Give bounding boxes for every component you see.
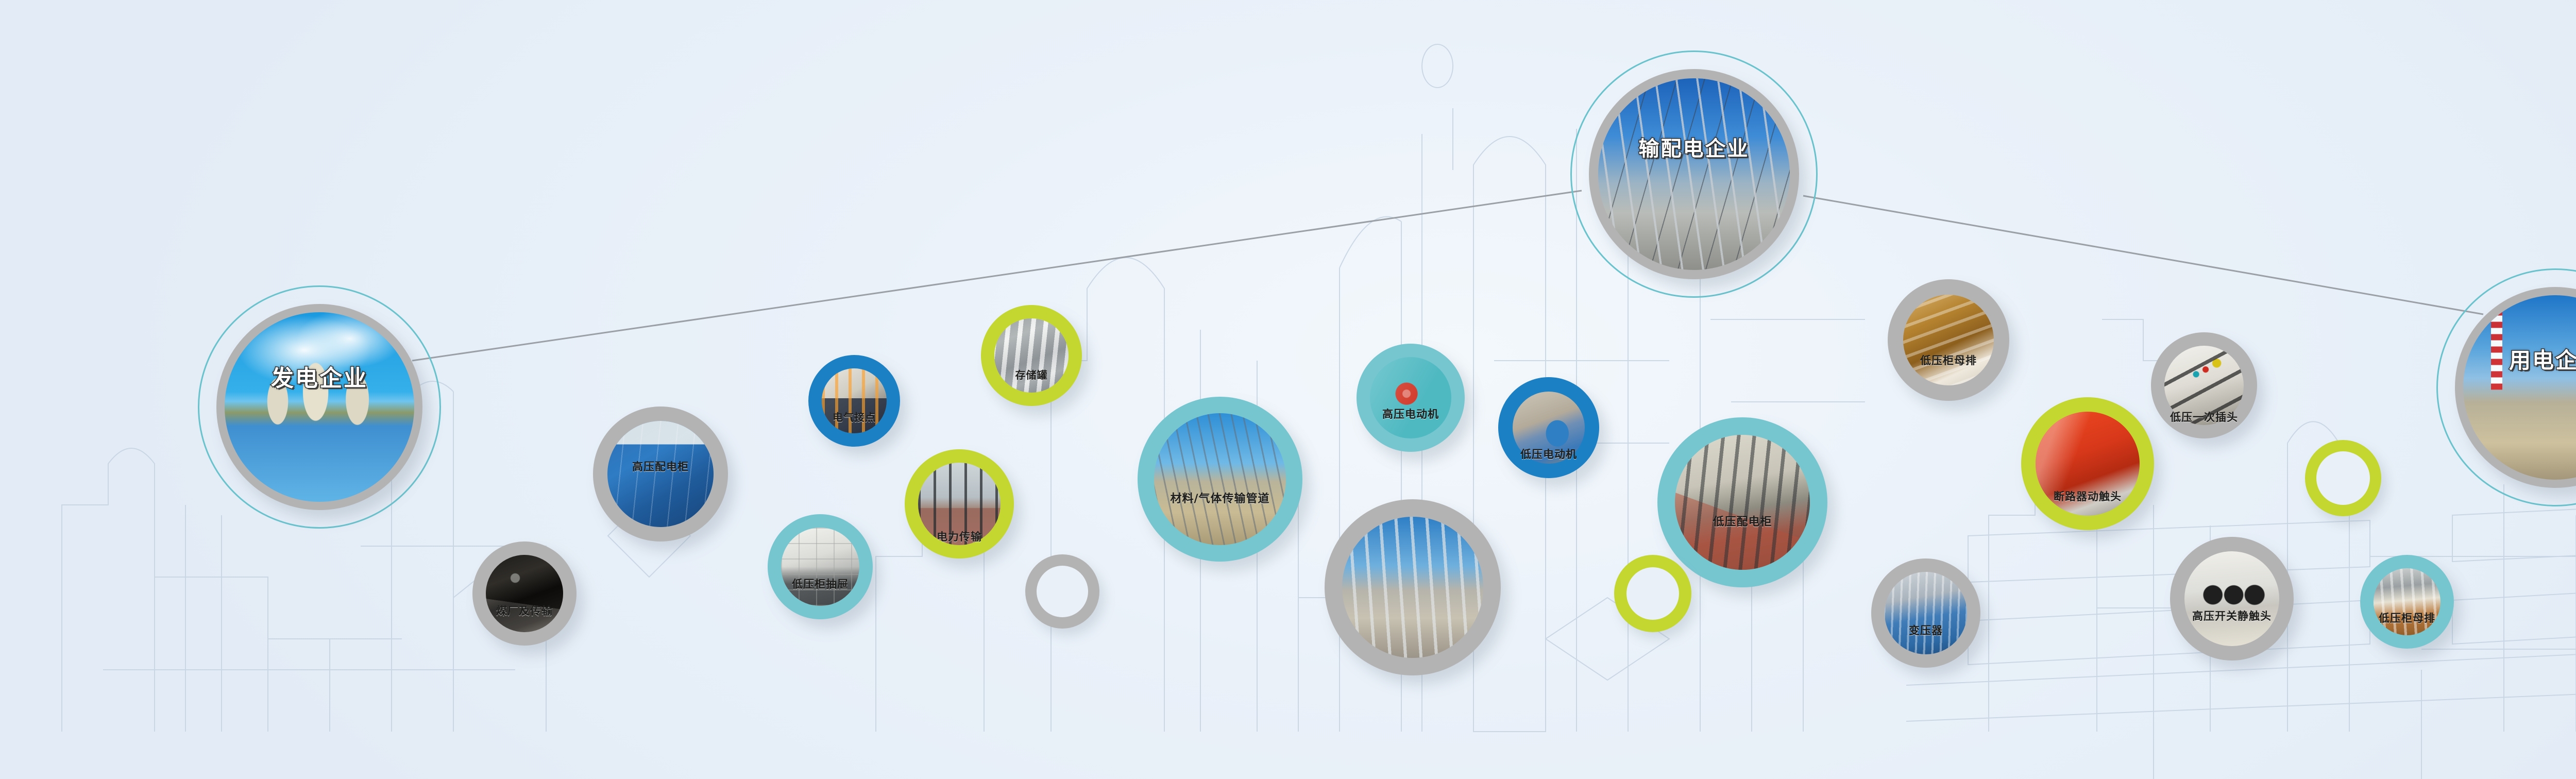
- node-lv-busbar-2[interactable]: 低压柜母排: [2360, 555, 2454, 649]
- node-lv-busbar-2-ring: [2360, 555, 2454, 649]
- node-lv-motor-caption: 低压电动机: [1520, 446, 1577, 462]
- node-lv-cabinet-caption: 低压配电柜: [1713, 513, 1772, 529]
- node-transmit-caption: 电力传输: [937, 529, 982, 544]
- node-lv-plug[interactable]: 低压一次插头: [2151, 332, 2257, 438]
- node-hv-motor-ring: [1357, 344, 1465, 452]
- node-lv-drawer[interactable]: 低压柜抽屉: [768, 514, 873, 619]
- node-contact-caption: 电气接点: [833, 409, 876, 424]
- node-deco-ring-1-photo: [1037, 566, 1088, 617]
- node-transformer-caption: 变压器: [1909, 622, 1943, 638]
- node-deco-ring-1[interactable]: [1025, 554, 1099, 629]
- node-coal-photo: [486, 555, 563, 632]
- node-contact[interactable]: 电气接点: [808, 355, 900, 447]
- node-hv-static-ring: [2170, 537, 2294, 661]
- node-lv-motor-ring: [1498, 377, 1599, 478]
- node-stack-plant-photo: [1342, 517, 1483, 658]
- node-coal-caption: 煤厂及传输: [496, 603, 553, 618]
- node-transmit[interactable]: 电力传输: [905, 449, 1014, 558]
- node-stack-plant-ring: [1325, 499, 1501, 675]
- node-consumption[interactable]: 用电企业: [2455, 287, 2576, 488]
- node-pipeline[interactable]: 材料/气体传输管道: [1138, 397, 1302, 562]
- node-transformer-ring: [1871, 558, 1980, 668]
- node-pipeline-photo: [1154, 413, 1286, 545]
- node-consumption-caption: 用电企业: [2509, 343, 2576, 375]
- node-transmission-photo: [1598, 78, 1790, 270]
- node-hv-cabinet[interactable]: 高压配电柜: [593, 407, 728, 541]
- node-deco-ring-2-ring: [1614, 555, 1691, 632]
- node-generation[interactable]: 发电企业: [216, 304, 422, 510]
- node-deco-ring-2-photo: [1626, 567, 1679, 620]
- node-hv-cabinet-ring: [593, 407, 728, 541]
- node-deco-ring-1-ring: [1025, 554, 1099, 629]
- node-generation-photo: [225, 312, 414, 502]
- node-hv-static-caption: 高压开关静触头: [2192, 608, 2272, 623]
- node-hv-motor-caption: 高压电动机: [1382, 406, 1439, 421]
- node-deco-ring-3-photo: [2316, 451, 2370, 505]
- node-lv-busbar-1[interactable]: 低压柜母排: [1888, 279, 2009, 401]
- node-tank-caption: 存储罐: [1015, 367, 1048, 382]
- node-pipeline-ring: [1138, 397, 1302, 562]
- node-lv-busbar-2-caption: 低压柜母排: [2379, 610, 2435, 625]
- node-deco-ring-2[interactable]: [1614, 555, 1691, 632]
- node-hv-static[interactable]: 高压开关静触头: [2170, 537, 2294, 661]
- node-generation-ring: [216, 304, 422, 510]
- node-deco-ring-3[interactable]: [2305, 440, 2381, 516]
- node-lv-busbar-1-ring: [1888, 279, 2009, 401]
- node-transmission-ring: [1589, 69, 1799, 279]
- node-lv-drawer-photo: [781, 528, 859, 606]
- node-coal[interactable]: 煤厂及传输: [472, 541, 577, 646]
- node-breaker[interactable]: 断路器动触头: [2021, 397, 2154, 530]
- node-hv-cabinet-caption: 高压配电柜: [632, 459, 689, 474]
- node-transmission[interactable]: 输配电企业: [1589, 69, 1799, 279]
- node-breaker-caption: 断路器动触头: [2054, 488, 2122, 504]
- node-lv-busbar-1-caption: 低压柜母排: [1920, 352, 1977, 368]
- node-lv-drawer-ring: [768, 514, 873, 619]
- node-hv-motor-photo: [1370, 357, 1451, 438]
- node-transmission-caption: 输配电企业: [1639, 132, 1750, 162]
- node-deco-ring-3-ring: [2305, 440, 2381, 516]
- node-coal-ring: [472, 541, 577, 646]
- node-generation-caption: 发电企业: [271, 360, 368, 393]
- node-tank-ring: [981, 305, 1082, 406]
- node-consumption-photo: [2463, 295, 2576, 480]
- node-lv-busbar-1-photo: [1903, 295, 1994, 385]
- node-consumption-ring: [2455, 287, 2576, 488]
- node-contact-ring: [808, 355, 900, 447]
- node-pipeline-caption: 材料/气体传输管道: [1170, 489, 1269, 506]
- node-transformer-photo: [1885, 572, 1967, 654]
- node-breaker-ring: [2021, 397, 2154, 530]
- node-lv-plug-caption: 低压一次插头: [2170, 409, 2238, 425]
- node-tank[interactable]: 存储罐: [981, 305, 1082, 406]
- node-lv-drawer-caption: 低压柜抽屉: [792, 576, 849, 591]
- node-hv-motor[interactable]: 高压电动机: [1357, 344, 1465, 452]
- node-transformer[interactable]: 变压器: [1871, 558, 1980, 668]
- node-lv-motor[interactable]: 低压电动机: [1498, 377, 1599, 478]
- diagram-canvas: 发电企业煤厂及传输高压配电柜电气接点存储罐低压柜抽屉电力传输材料/气体传输管道高…: [0, 0, 2576, 779]
- node-stack-plant[interactable]: [1325, 499, 1501, 675]
- node-hv-static-photo: [2184, 551, 2279, 646]
- node-hv-cabinet-photo: [607, 421, 714, 527]
- node-lv-cabinet-photo: [1675, 435, 1810, 570]
